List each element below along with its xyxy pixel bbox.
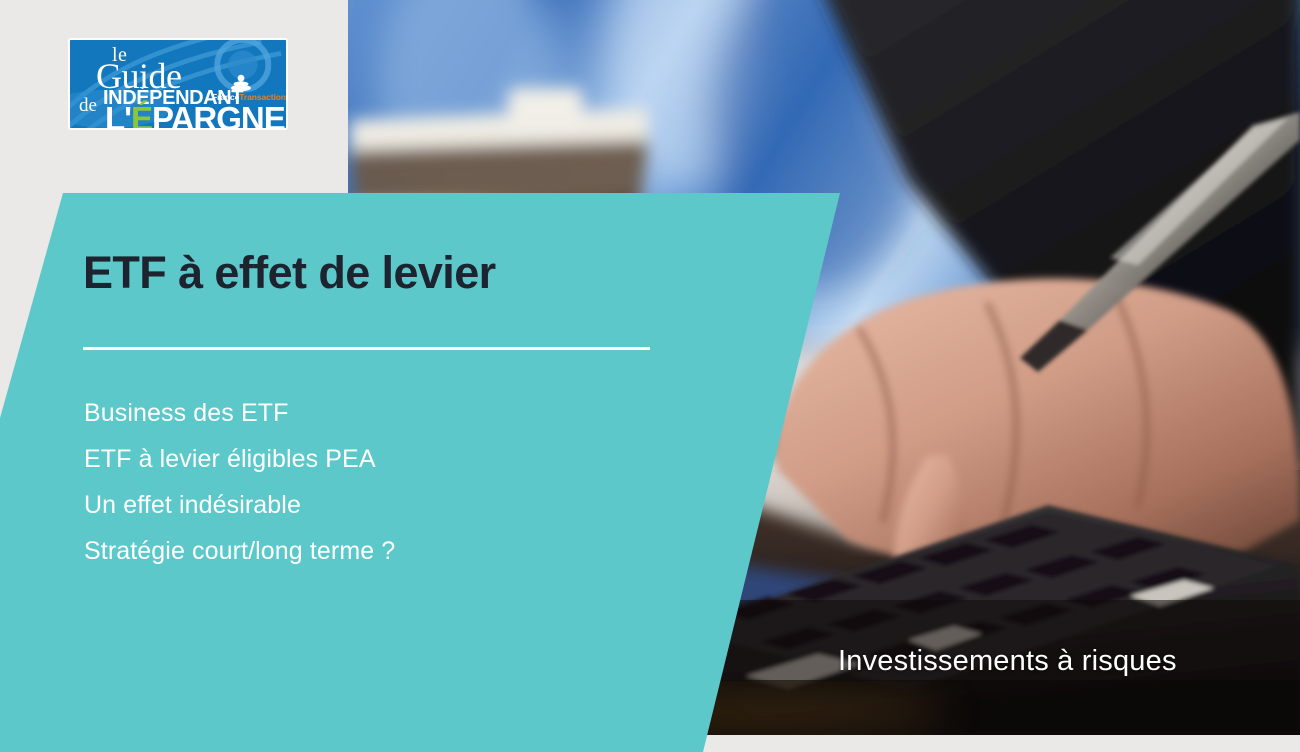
list-item: ETF à levier éligibles PEA [84, 436, 395, 482]
site-logo[interactable]: le Guide de INDÉPENDANT FranceTransactio… [68, 38, 288, 130]
list-item: Un effet indésirable [84, 482, 395, 528]
logo-line-epargne: L'ÉPARGNE [105, 102, 285, 130]
epargne-accent-e: É [131, 100, 152, 130]
page-title: ETF à effet de levier [83, 247, 496, 299]
epargne-rest: PARGNE [152, 100, 285, 130]
logo-line-de: de [79, 96, 97, 115]
slide-canvas: le Guide de INDÉPENDANT FranceTransactio… [0, 0, 1300, 752]
list-item: Stratégie court/long terme ? [84, 528, 395, 574]
hero-photo [348, 0, 1300, 735]
photo-caption: Investissements à risques [838, 645, 1177, 678]
logo-wordmark: le Guide de INDÉPENDANT FranceTransactio… [70, 40, 286, 128]
topic-list: Business des ETF ETF à levier éligibles … [84, 390, 395, 574]
list-item: Business des ETF [84, 390, 395, 436]
france-transactions-logo-icon [230, 74, 252, 92]
title-divider [83, 347, 650, 350]
epargne-prefix: L' [105, 100, 131, 130]
